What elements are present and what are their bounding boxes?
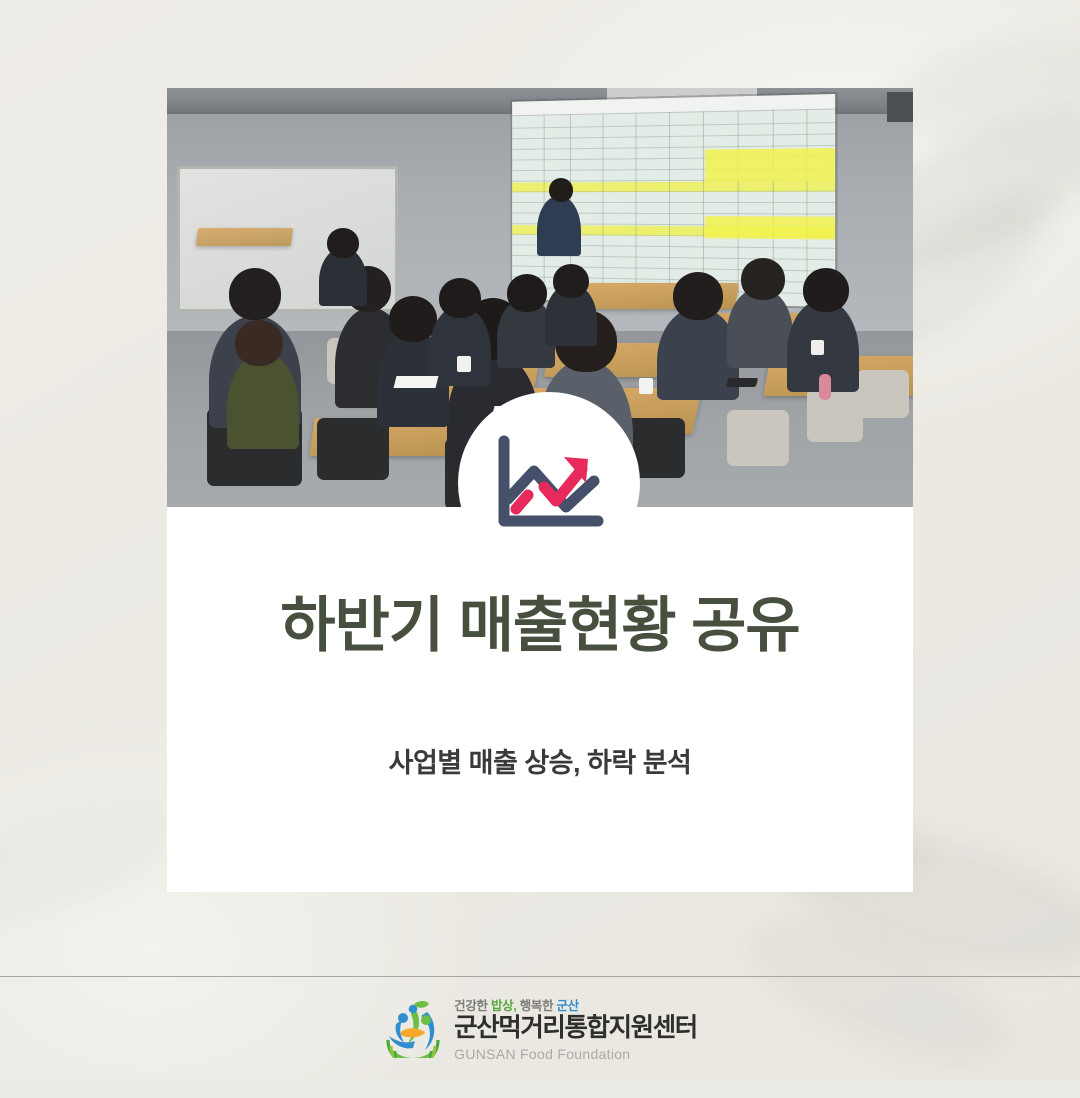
photo-presenter	[537, 196, 581, 256]
photo-chair	[857, 370, 909, 418]
photo-person-head	[229, 268, 281, 320]
photo-person-head	[803, 268, 849, 312]
photo-presenter-head	[549, 178, 573, 202]
photo-person-head	[389, 296, 437, 342]
tagline-green: 밥상,	[491, 999, 517, 1013]
photo-table	[196, 228, 294, 246]
chart-icon-badge	[458, 392, 640, 574]
photo-chair	[317, 418, 389, 480]
photo-person-head	[327, 228, 359, 258]
logo-text-block: 건강한 밥상, 행복한 군산 군산먹거리통합지원센터 GUNSAN Food F…	[454, 1000, 697, 1061]
organization-name-kr: 군산먹거리통합지원센터	[454, 1016, 697, 1042]
photo-document	[394, 376, 439, 388]
logo-tagline: 건강한 밥상, 행복한 군산	[454, 1000, 697, 1013]
organization-name-en: GUNSAN Food Foundation	[454, 1047, 697, 1061]
tagline-blue: 군산	[556, 999, 578, 1013]
leaf-shadow-icon	[0, 787, 188, 942]
photo-smartphone	[726, 378, 759, 387]
content-card: 하반기 매출현황 공유 사업별 매출 상승, 하락 분석	[167, 88, 913, 892]
photo-person	[227, 353, 299, 449]
photo-tumbler	[819, 374, 831, 400]
photo-door	[887, 92, 913, 122]
photo-chair	[727, 410, 789, 466]
tagline-part1: 건강한	[454, 999, 491, 1013]
footer-divider	[0, 976, 1080, 977]
photo-person	[429, 306, 491, 386]
photo-paper-cup	[457, 356, 471, 372]
page-subtitle: 사업별 매출 상승, 하락 분석	[167, 741, 913, 780]
sales-trend-chart-icon	[494, 435, 604, 531]
organization-logo: 건강한 밥상, 행복한 군산 군산먹거리통합지원센터 GUNSAN Food F…	[383, 998, 697, 1063]
photo-person-head	[235, 320, 283, 366]
photo-paper-cup	[639, 378, 653, 394]
photo-person-head	[741, 258, 785, 300]
photo-paper-cup	[811, 340, 824, 355]
photo-person-head	[439, 278, 481, 318]
poster-canvas: 하반기 매출현황 공유 사업별 매출 상승, 하락 분석	[0, 0, 1080, 1080]
gunsan-food-foundation-logo-icon	[383, 998, 443, 1063]
photo-chair	[807, 388, 863, 442]
photo-person-head	[553, 264, 589, 298]
photo-person	[727, 288, 793, 368]
tagline-part2: 행복한	[517, 999, 557, 1013]
photo-person-head	[507, 274, 547, 312]
photo-person-head	[673, 272, 723, 320]
footer: 건강한 밥상, 행복한 군산 군산먹거리통합지원센터 GUNSAN Food F…	[0, 980, 1080, 1080]
page-title: 하반기 매출현황 공유	[167, 593, 913, 659]
